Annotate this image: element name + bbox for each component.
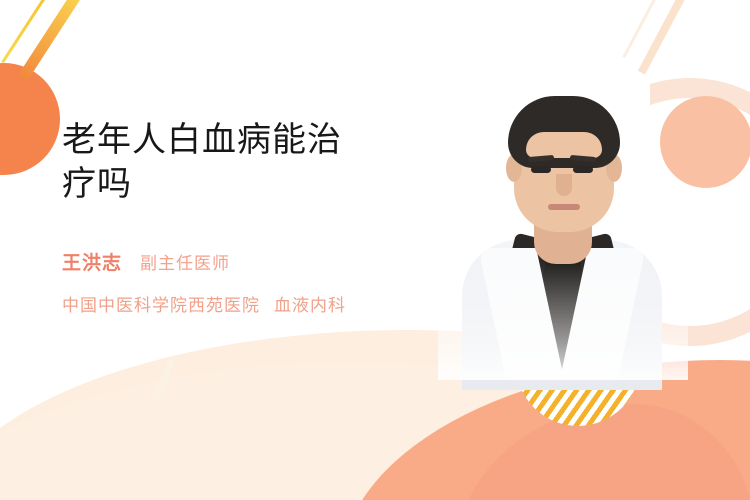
hospital-name: 中国中医科学院西苑医院 <box>62 291 260 316</box>
text-block: 老年人白血病能治 疗吗 王洪志 副主任医师 中国中医科学院西苑医院 血液内科 <box>62 118 422 316</box>
top-left-thick-stripe <box>18 0 91 81</box>
orange-circle-accent <box>0 63 60 175</box>
doctor-rank: 副主任医师 <box>140 249 230 274</box>
top-left-thin-stripe <box>1 0 54 63</box>
video-thumbnail-card: 老年人白血病能治 疗吗 王洪志 副主任医师 中国中医科学院西苑医院 血液内科 <box>0 0 750 500</box>
page-title: 老年人白血病能治 疗吗 <box>62 118 422 206</box>
top-right-stripe-b <box>638 0 688 74</box>
bottom-middle-stripe <box>152 358 175 401</box>
portrait-fade-overlay <box>438 70 688 380</box>
doctor-name: 王洪志 <box>62 248 122 275</box>
doctor-byline: 王洪志 副主任医师 <box>62 248 422 275</box>
top-right-stripe-a <box>622 0 662 58</box>
doctor-portrait <box>446 70 678 370</box>
doctor-affiliation: 中国中医科学院西苑医院 血液内科 <box>62 291 422 316</box>
department-name: 血液内科 <box>274 291 346 316</box>
